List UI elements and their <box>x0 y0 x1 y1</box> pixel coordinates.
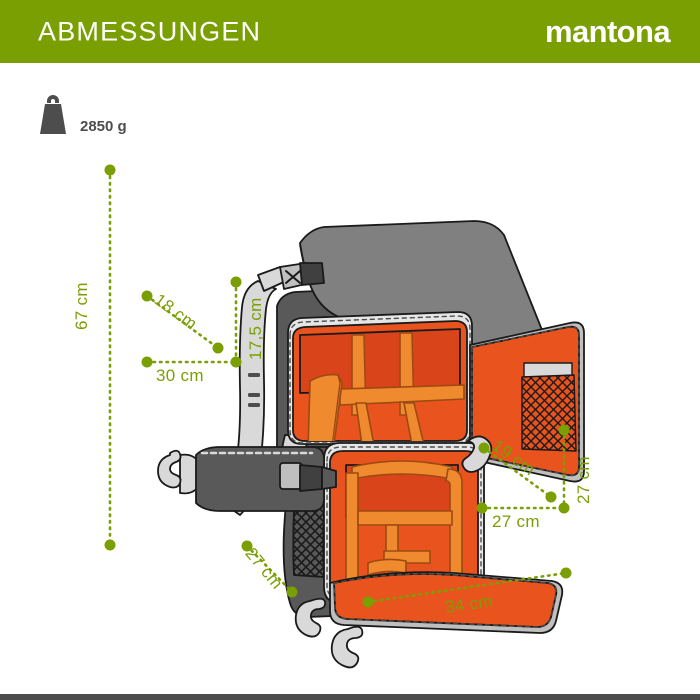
dimension-label-width-top: 30 cm <box>156 366 204 386</box>
brand-logo: mantona <box>545 14 670 50</box>
page-header: ABMESSUNGEN mantona <box>0 0 700 63</box>
top-compartment <box>288 312 472 449</box>
page-title: ABMESSUNGEN <box>38 16 261 47</box>
dimension-label-height-lower: 27 cm <box>574 456 594 504</box>
dimension-label-depth-inner: 17,5 cm <box>246 297 266 360</box>
hip-belt <box>180 447 336 511</box>
dimensions-infographic: ABMESSUNGEN mantona 2850 g <box>0 0 700 700</box>
dimension-label-width-lower: 27 cm <box>492 512 540 532</box>
backpack-illustration <box>0 63 700 694</box>
dimension-label-height-total: 67 cm <box>72 282 92 330</box>
